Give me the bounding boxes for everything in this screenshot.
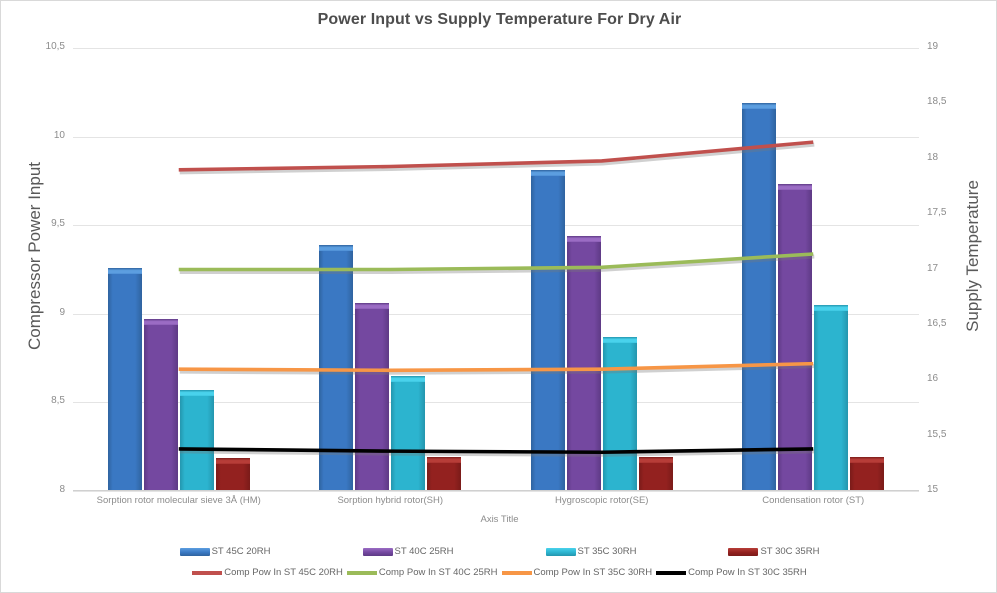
y-axis-left-tick-label: 10,5	[46, 41, 65, 52]
y-axis-right-tick-label: 17,5	[927, 207, 946, 218]
legend-item[interactable]: Comp Pow In ST 30C 35RH	[656, 567, 807, 578]
legend-item[interactable]: Comp Pow In ST 40C 25RH	[347, 567, 498, 578]
y-axis-left-ticks: 88,599,51010,5	[1, 48, 73, 491]
bar[interactable]	[144, 319, 178, 491]
bar-body	[742, 109, 776, 491]
y-axis-left-tick-label: 8,5	[51, 395, 65, 406]
bar-body	[355, 309, 389, 491]
bar[interactable]	[531, 170, 565, 491]
y-axis-right-tick-label: 19	[927, 41, 938, 52]
y-axis-right-tick-label: 17	[927, 263, 938, 274]
y-axis-right-tick-label: 18,5	[927, 96, 946, 107]
bar-body	[778, 190, 812, 491]
legend-item[interactable]: ST 35C 30RH	[546, 546, 637, 557]
bar[interactable]	[814, 305, 848, 491]
legend-item[interactable]: Comp Pow In ST 35C 30RH	[502, 567, 653, 578]
bar-body	[639, 463, 673, 491]
category-label: Sorption rotor molecular sieve 3Å (HM)	[73, 495, 285, 506]
plot-area	[73, 48, 919, 491]
bar[interactable]	[216, 458, 250, 491]
bar[interactable]	[778, 184, 812, 491]
bar-body	[567, 242, 601, 491]
bar[interactable]	[180, 390, 214, 491]
gridline	[73, 491, 919, 492]
bar-body	[391, 382, 425, 491]
bar-group	[285, 48, 497, 491]
legend-item[interactable]: Comp Pow In ST 45C 20RH	[192, 567, 343, 578]
legend-swatch-icon	[728, 548, 758, 556]
bar[interactable]	[850, 457, 884, 491]
bar-body	[850, 463, 884, 491]
legend-swatch-icon	[363, 548, 393, 556]
legend-item-label: ST 30C 35RH	[760, 546, 819, 557]
category-label: Condensation rotor (ST)	[708, 495, 920, 506]
y-axis-left-tick-label: 9	[59, 307, 65, 318]
chart-legend: ST 45C 20RHST 40C 25RHST 35C 30RHST 30C …	[1, 541, 997, 583]
y-axis-left-tick-label: 8	[59, 484, 65, 495]
legend-swatch-icon	[180, 548, 210, 556]
bar-body	[108, 274, 142, 491]
y-axis-right-tick-label: 16	[927, 373, 938, 384]
legend-item-label: ST 35C 30RH	[578, 546, 637, 557]
y-axis-right-tick-label: 16,5	[927, 318, 946, 329]
legend-swatch-icon	[656, 571, 686, 575]
legend-item-label: Comp Pow In ST 45C 20RH	[224, 567, 343, 578]
legend-swatch-icon	[347, 571, 377, 575]
category-label: Sorption hybrid rotor(SH)	[285, 495, 497, 506]
legend-item[interactable]: ST 40C 25RH	[363, 546, 454, 557]
legend-item-label: Comp Pow In ST 35C 30RH	[534, 567, 653, 578]
bar-group	[496, 48, 708, 491]
bar-body	[603, 343, 637, 491]
x-axis-title: Axis Title	[1, 514, 997, 525]
y-axis-right-tick-label: 18	[927, 152, 938, 163]
bar[interactable]	[567, 236, 601, 491]
bar[interactable]	[639, 457, 673, 491]
bar[interactable]	[319, 245, 353, 491]
legend-item[interactable]: ST 45C 20RH	[180, 546, 271, 557]
y-axis-left-tick-label: 10	[54, 130, 65, 141]
legend-row-bar-series: ST 45C 20RHST 40C 25RHST 35C 30RHST 30C …	[1, 541, 997, 562]
bar[interactable]	[355, 303, 389, 491]
bar[interactable]	[603, 337, 637, 491]
legend-item[interactable]: ST 30C 35RH	[728, 546, 819, 557]
legend-item-label: ST 40C 25RH	[395, 546, 454, 557]
bar-body	[216, 464, 250, 491]
bar[interactable]	[391, 376, 425, 491]
bar-body	[531, 176, 565, 491]
x-axis-line	[73, 490, 919, 491]
bar[interactable]	[427, 457, 461, 491]
legend-swatch-icon	[546, 548, 576, 556]
bar-body	[180, 396, 214, 491]
chart-title: Power Input vs Supply Temperature For Dr…	[1, 11, 997, 29]
bar-group	[73, 48, 285, 491]
y-axis-left-tick-label: 9,5	[51, 218, 65, 229]
legend-item-label: Comp Pow In ST 30C 35RH	[688, 567, 807, 578]
y-axis-right-ticks: 1515,51616,51717,51818,519	[919, 48, 997, 491]
legend-item-label: ST 45C 20RH	[212, 546, 271, 557]
legend-item-label: Comp Pow In ST 40C 25RH	[379, 567, 498, 578]
bar-body	[144, 325, 178, 491]
bar-group	[708, 48, 920, 491]
category-label: Hygroscopic rotor(SE)	[496, 495, 708, 506]
category-labels: Sorption rotor molecular sieve 3Å (HM)So…	[73, 495, 919, 511]
bar[interactable]	[742, 103, 776, 491]
y-axis-right-tick-label: 15,5	[927, 429, 946, 440]
legend-swatch-icon	[502, 571, 532, 575]
legend-swatch-icon	[192, 571, 222, 575]
y-axis-right-tick-label: 15	[927, 484, 938, 495]
legend-row-line-series: Comp Pow In ST 45C 20RHComp Pow In ST 40…	[1, 562, 997, 583]
bar-body	[427, 463, 461, 491]
bar-body	[319, 251, 353, 491]
bar-body	[814, 311, 848, 491]
bar[interactable]	[108, 268, 142, 491]
chart-container: Power Input vs Supply Temperature For Dr…	[0, 0, 997, 593]
